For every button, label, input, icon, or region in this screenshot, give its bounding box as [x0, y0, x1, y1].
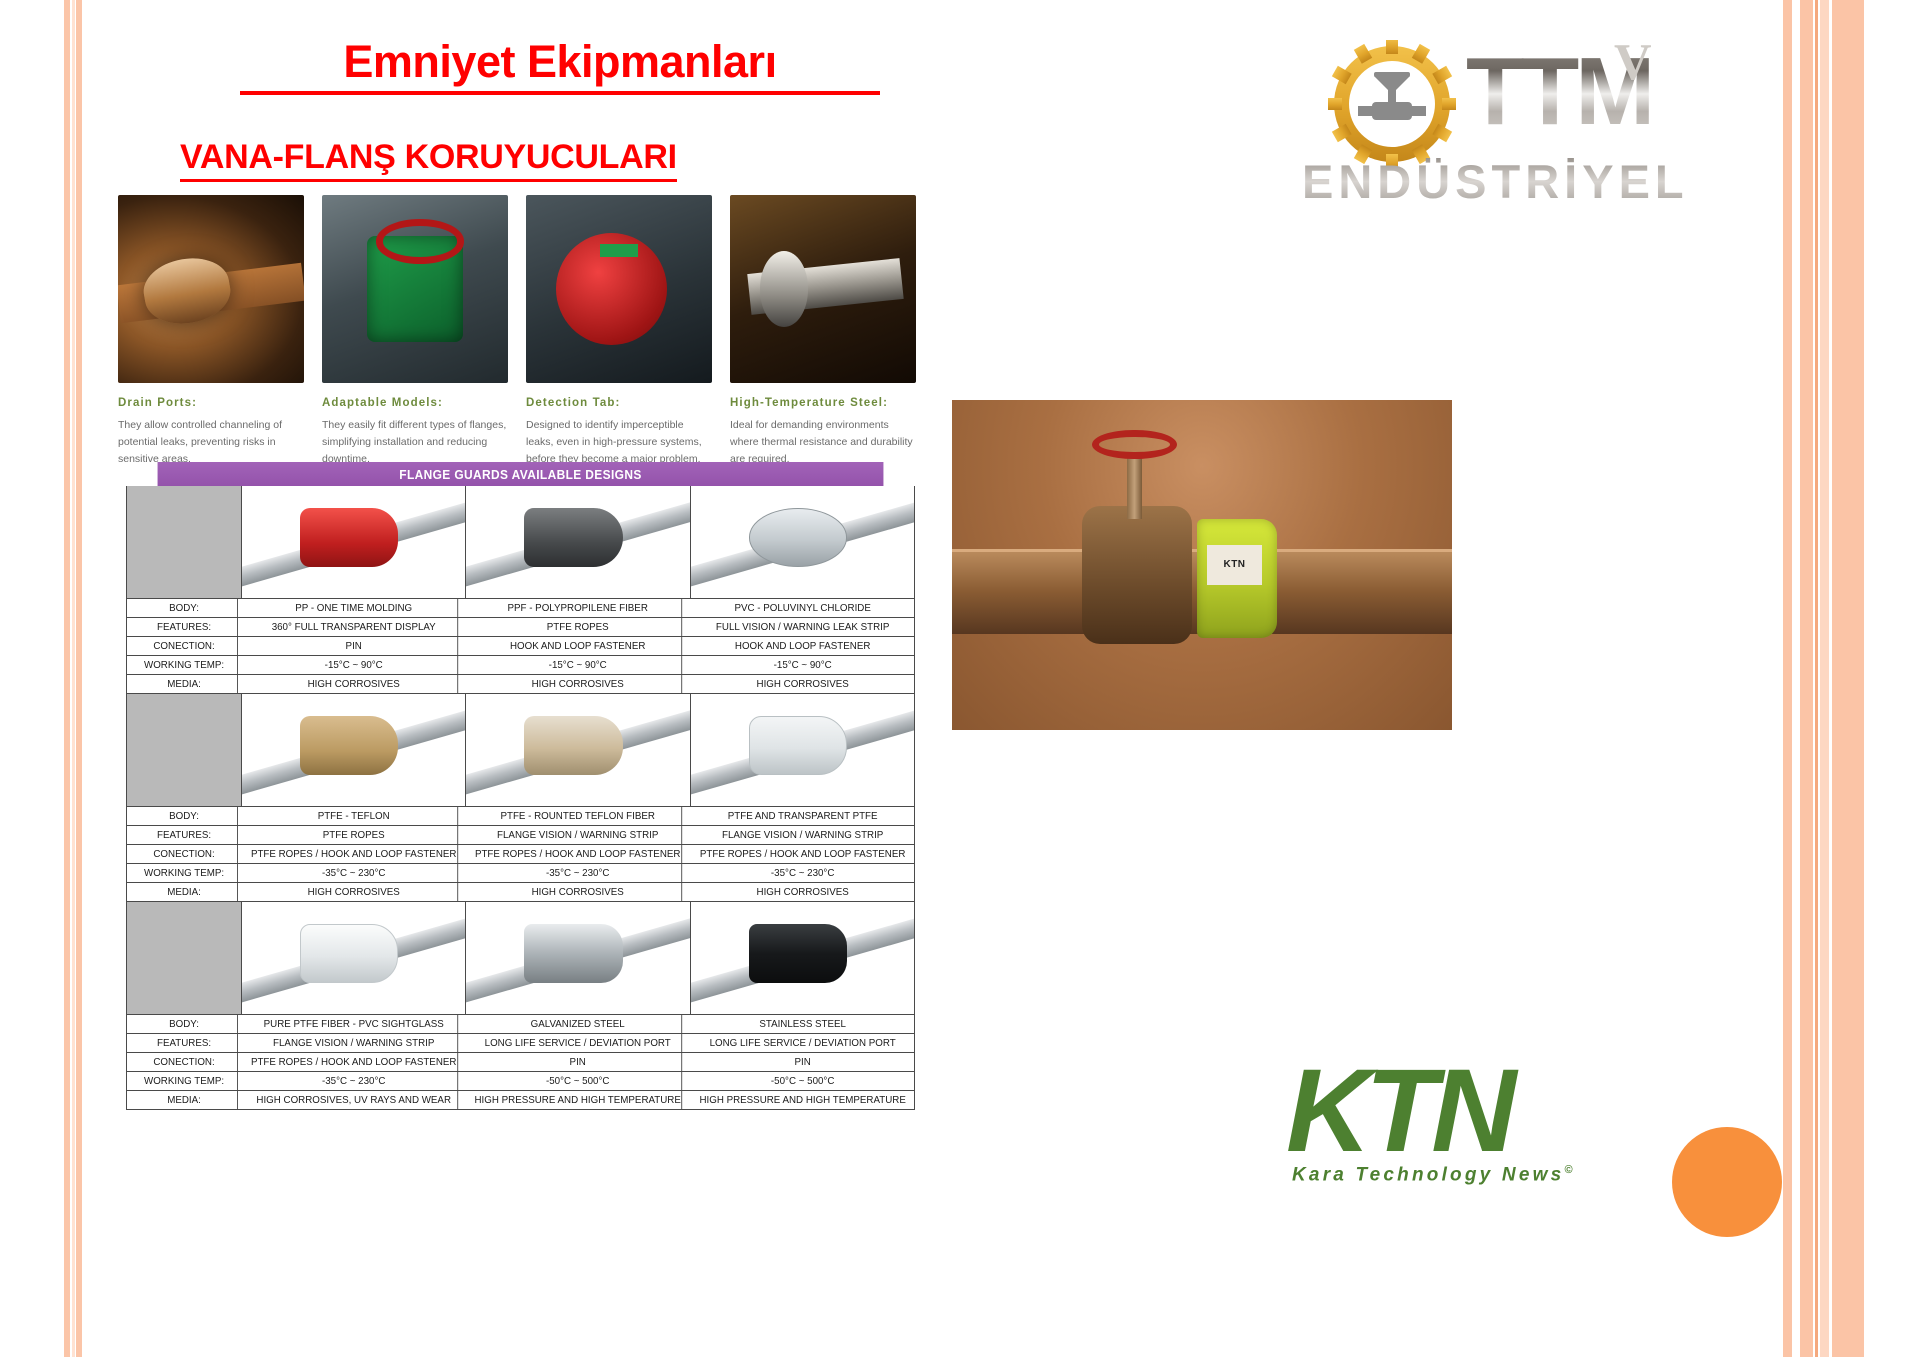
feature-card: Adaptable Models: They easily fit differ… — [322, 195, 508, 468]
cell-value: HIGH CORROSIVES — [474, 883, 683, 901]
stainless-steel-guard-image — [691, 902, 914, 1014]
cell-value: -35°C ~ 230°C — [474, 864, 683, 882]
cell-value: PP - ONE TIME MOLDING — [250, 599, 459, 617]
pure-ptfe-fiber-pvc-sightglass-guard-image — [242, 902, 466, 1014]
row-label: BODY: — [131, 599, 238, 617]
row-label: CONECTION: — [131, 845, 238, 863]
copyright-mark: © — [1564, 1164, 1575, 1176]
feature-title: Adaptable Models: — [322, 397, 508, 409]
cell-value: PTFE ROPES — [250, 826, 459, 844]
cell-value: PIN — [250, 637, 459, 655]
flange-table-block: BODY: PTFE - TEFLON PTFE - ROUNTED TEFLO… — [126, 694, 915, 902]
guard-shape — [300, 924, 398, 982]
red-one-time-molding-guard-image — [242, 486, 466, 598]
row-label: MEDIA: — [131, 883, 238, 901]
flange-guards-table: FLANGE GUARDS AVAILABLE DESIGNS BODY: PP… — [126, 462, 915, 1110]
feature-title: Drain Ports: — [118, 397, 304, 409]
row-label: BODY: — [131, 807, 238, 825]
table-row: BODY: PP - ONE TIME MOLDING PPF - POLYPR… — [127, 598, 914, 617]
table-row: CONECTION: PTFE ROPES / HOOK AND LOOP FA… — [127, 1052, 914, 1071]
feature-title: Detection Tab: — [526, 397, 712, 409]
ktn-wordmark: KTN — [1286, 1052, 1646, 1170]
flange-image-row — [127, 486, 914, 598]
cell-value: GALVANIZED STEEL — [474, 1015, 683, 1033]
flange-image-row — [127, 902, 914, 1014]
guard-shape — [749, 924, 847, 982]
right-stripe-4 — [1820, 0, 1829, 1357]
cell-value: PIN — [698, 1053, 906, 1071]
ktn-logo: KTN Kara Technology News© — [1286, 1052, 1646, 1212]
table-row: MEDIA: HIGH CORROSIVES, UV RAYS AND WEAR… — [127, 1090, 914, 1109]
feature-body: Ideal for demanding environments where t… — [730, 417, 916, 468]
feature-card: Detection Tab: Designed to identify impe… — [526, 195, 712, 468]
table-row: FEATURES: PTFE ROPES FLANGE VISION / WAR… — [127, 825, 914, 844]
row-label: CONECTION: — [131, 1053, 238, 1071]
cell-value: PVC - POLUVINYL CHLORIDE — [698, 599, 906, 617]
cell-value: FLANGE VISION / WARNING STRIP — [250, 1034, 459, 1052]
flange-table-block: BODY: PP - ONE TIME MOLDING PPF - POLYPR… — [126, 486, 915, 694]
table-row: MEDIA: HIGH CORROSIVES HIGH CORROSIVES H… — [127, 674, 914, 693]
cell-value: -15°C ~ 90°C — [250, 656, 459, 674]
ttm-tagline: ENDÜSTRİYEL — [1302, 158, 1689, 205]
table-row: FEATURES: FLANGE VISION / WARNING STRIP … — [127, 1033, 914, 1052]
table-row: CONECTION: PIN HOOK AND LOOP FASTENER HO… — [127, 636, 914, 655]
cell-value: HIGH CORROSIVES — [250, 675, 459, 693]
table-row: MEDIA: HIGH CORROSIVES HIGH CORROSIVES H… — [127, 882, 914, 901]
ptfe-teflon-guard-image — [242, 694, 466, 806]
guard-shape — [524, 716, 622, 774]
right-stripe-2 — [1800, 0, 1813, 1357]
table-row: BODY: PURE PTFE FIBER - PVC SIGHTGLASS G… — [127, 1014, 914, 1033]
row-label: MEDIA: — [131, 675, 238, 693]
image-row-label-spacer — [127, 486, 242, 598]
right-stripe-3 — [1815, 0, 1818, 1357]
page-title: Emniyet Ekipmanları — [240, 38, 880, 95]
cell-value: HOOK AND LOOP FASTENER — [698, 637, 906, 655]
guard-shape — [524, 924, 622, 982]
guard-shape — [749, 716, 847, 774]
cell-value: -50°C ~ 500°C — [474, 1072, 683, 1090]
cell-value: HOOK AND LOOP FASTENER — [474, 637, 683, 655]
table-row: WORKING TEMP: -35°C ~ 230°C -35°C ~ 230°… — [127, 863, 914, 882]
cell-value: HIGH CORROSIVES — [250, 883, 459, 901]
orange-circle-accent — [1672, 1127, 1782, 1237]
ktn-tagline: Kara Technology News — [1292, 1164, 1564, 1185]
cell-value: PTFE ROPES / HOOK AND LOOP FASTENER — [250, 1053, 459, 1071]
guard-shape — [300, 716, 398, 774]
cell-value: PTFE ROPES / HOOK AND LOOP FASTENER — [474, 845, 683, 863]
cell-value: HIGH PRESSURE AND HIGH TEMPERATURE — [698, 1091, 906, 1109]
detection-tab-photo — [526, 195, 712, 383]
feature-card: High-Temperature Steel: Ideal for demand… — [730, 195, 916, 468]
image-row-label-spacer — [127, 902, 242, 1014]
row-label: WORKING TEMP: — [131, 656, 238, 674]
flange-table-header: FLANGE GUARDS AVAILABLE DESIGNS — [158, 462, 884, 486]
guard-label-tag: KTN — [1207, 545, 1262, 585]
cell-value: PTFE ROPES — [474, 618, 683, 636]
image-row-label-spacer — [127, 694, 242, 806]
feature-card: Drain Ports: They allow controlled chann… — [118, 195, 304, 468]
guard-shape — [300, 508, 398, 566]
valve-body-shape — [1082, 506, 1192, 645]
cell-value: HIGH CORROSIVES — [698, 883, 906, 901]
flange-table-block: BODY: PURE PTFE FIBER - PVC SIGHTGLASS G… — [126, 902, 915, 1110]
ttm-logo: TTM V ENDÜSTRİYEL — [1296, 32, 1786, 232]
row-label: CONECTION: — [131, 637, 238, 655]
cell-value: HIGH CORROSIVES — [698, 675, 906, 693]
cell-value: HIGH PRESSURE AND HIGH TEMPERATURE — [474, 1091, 683, 1109]
row-label: FEATURES: — [131, 826, 238, 844]
cell-value: HIGH CORROSIVES, UV RAYS AND WEAR — [250, 1091, 459, 1109]
flange-image-row — [127, 694, 914, 806]
gear-valve-icon — [1328, 40, 1456, 168]
cell-value: PTFE ROPES / HOOK AND LOOP FASTENER — [698, 845, 906, 863]
cell-value: PTFE - TEFLON — [250, 807, 459, 825]
table-row: WORKING TEMP: -35°C ~ 230°C -50°C ~ 500°… — [127, 1071, 914, 1090]
cell-value: PTFE AND TRANSPARENT PTFE — [698, 807, 906, 825]
cell-value: PIN — [474, 1053, 683, 1071]
ptfe-rounted-teflon-fiber-guard-image — [466, 694, 690, 806]
page-subtitle: VANA-FLANŞ KORUYUCULARI — [180, 138, 677, 182]
cell-value: PURE PTFE FIBER - PVC SIGHTGLASS — [250, 1015, 459, 1033]
left-stripe-3 — [76, 0, 82, 1357]
cell-value: FLANGE VISION / WARNING STRIP — [474, 826, 683, 844]
feature-body: Designed to identify imperceptible leaks… — [526, 417, 712, 468]
row-label: MEDIA: — [131, 1091, 238, 1109]
right-stripe-5 — [1832, 0, 1864, 1357]
row-label: BODY: — [131, 1015, 238, 1033]
cell-value: FLANGE VISION / WARNING STRIP — [698, 826, 906, 844]
left-stripe-1 — [64, 0, 70, 1357]
left-stripe-2 — [72, 0, 75, 1357]
table-row: CONECTION: PTFE ROPES / HOOK AND LOOP FA… — [127, 844, 914, 863]
row-label: FEATURES: — [131, 618, 238, 636]
dark-polypropylene-fiber-guard-image — [466, 486, 690, 598]
gate-valve-with-flange-guard-photo: KTN — [952, 400, 1452, 730]
galvanized-steel-guard-image — [466, 902, 690, 1014]
table-row: FEATURES: 360° FULL TRANSPARENT DISPLAY … — [127, 617, 914, 636]
table-row: WORKING TEMP: -15°C ~ 90°C -15°C ~ 90°C … — [127, 655, 914, 674]
cell-value: STAINLESS STEEL — [698, 1015, 906, 1033]
cell-value: LONG LIFE SERVICE / DEVIATION PORT — [698, 1034, 906, 1052]
feature-title: High-Temperature Steel: — [730, 397, 916, 409]
cell-value: -15°C ~ 90°C — [698, 656, 906, 674]
cell-value: PTFE - ROUNTED TEFLON FIBER — [474, 807, 683, 825]
ptfe-transparent-guard-image — [691, 694, 914, 806]
cell-value: -35°C ~ 230°C — [250, 1072, 459, 1090]
table-row: BODY: PTFE - TEFLON PTFE - ROUNTED TEFLO… — [127, 806, 914, 825]
adaptable-models-photo — [322, 195, 508, 383]
feature-strip: Drain Ports: They allow controlled chann… — [118, 195, 930, 468]
cell-value: LONG LIFE SERVICE / DEVIATION PORT — [474, 1034, 683, 1052]
valve-handwheel-shape — [1092, 430, 1177, 460]
drain-ports-photo — [118, 195, 304, 383]
cell-value: -15°C ~ 90°C — [474, 656, 683, 674]
row-label: WORKING TEMP: — [131, 1072, 238, 1090]
pvc-transparent-guard-image — [691, 486, 914, 598]
cell-value: -35°C ~ 230°C — [250, 864, 459, 882]
guard-shape — [749, 508, 847, 566]
guard-shape — [524, 508, 622, 566]
feature-body: They allow controlled channeling of pote… — [118, 417, 304, 468]
cell-value: -35°C ~ 230°C — [698, 864, 906, 882]
cell-value: HIGH CORROSIVES — [474, 675, 683, 693]
cell-value: PTFE ROPES / HOOK AND LOOP FASTENER — [250, 845, 459, 863]
ttm-v-mark: V — [1614, 37, 1652, 89]
row-label: FEATURES: — [131, 1034, 238, 1052]
feature-body: They easily fit different types of flang… — [322, 417, 508, 468]
row-label: WORKING TEMP: — [131, 864, 238, 882]
ktn-tagline-wrap: Kara Technology News© — [1292, 1164, 1646, 1186]
cell-value: -50°C ~ 500°C — [698, 1072, 906, 1090]
high-temperature-steel-photo — [730, 195, 916, 383]
cell-value: FULL VISION / WARNING LEAK STRIP — [698, 618, 906, 636]
cell-value: PPF - POLYPROPILENE FIBER — [474, 599, 683, 617]
cell-value: 360° FULL TRANSPARENT DISPLAY — [250, 618, 459, 636]
valve-stem-shape — [1127, 453, 1142, 519]
